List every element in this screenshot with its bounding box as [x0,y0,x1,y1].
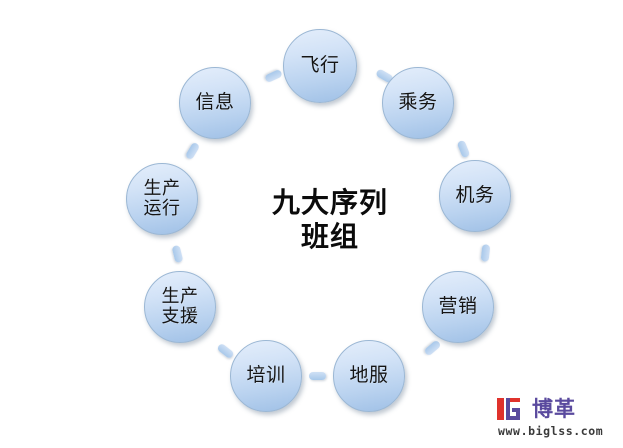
ring-node-label: 乘务 [398,93,437,113]
connector-dash [264,69,283,83]
ring-node[interactable]: 培训 [230,340,302,412]
ring-node[interactable]: 飞行 [283,29,357,103]
ring-node[interactable]: 生产 运行 [126,163,198,235]
ring-node[interactable]: 营销 [422,271,494,343]
brand-url: www.biglss.com [498,424,617,438]
ring-node[interactable]: 机务 [439,160,511,232]
brand-logo: 博革 www.biglss.com [497,396,617,442]
ring-node[interactable]: 生产 支援 [144,271,216,343]
brand-name: 博革 [532,398,576,420]
connector-dash [309,372,326,380]
connector-dash [423,339,441,356]
connector-dash [185,142,201,161]
ring-node-label: 飞行 [300,56,339,76]
ring-node-label: 生产 支援 [162,287,199,327]
ring-node-label: 地服 [349,366,388,386]
biglss-logo-icon [497,397,527,421]
logo-row: 博革 [497,396,617,422]
ring-node-label: 信息 [195,93,234,113]
ring-node-label: 营销 [438,297,477,317]
ring-node[interactable]: 地服 [333,340,405,412]
ring-node[interactable]: 信息 [179,67,251,139]
ring-node-label: 生产 运行 [144,179,181,219]
connector-dash [481,244,491,262]
ring-node-label: 机务 [455,186,494,206]
connector-dash [172,245,184,263]
ring-node[interactable]: 乘务 [382,67,454,139]
diagram-canvas: 飞行乘务机务营销地服培训生产 支援生产 运行信息 九大序列 班组 博革 www.… [0,0,623,448]
connector-dash [216,343,234,360]
center-title: 九大序列 班组 [230,186,430,254]
connector-dash [457,140,471,159]
ring-node-label: 培训 [246,366,285,386]
